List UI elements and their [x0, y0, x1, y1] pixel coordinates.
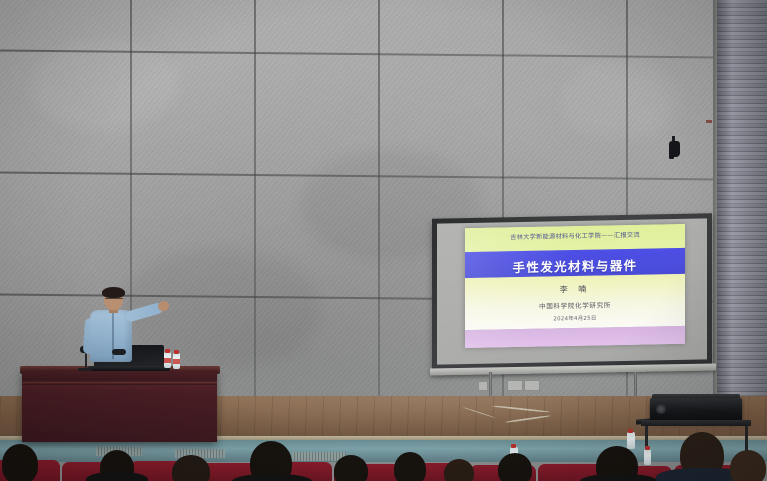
wall-socket	[478, 381, 488, 391]
presenter-remote	[112, 349, 126, 355]
audience-head	[172, 455, 210, 481]
wall-socket	[524, 380, 540, 391]
water-bottle	[627, 432, 635, 449]
audience-head	[498, 453, 532, 481]
wall-blotch	[560, 60, 680, 140]
audience-shoulders	[580, 474, 658, 481]
bottle-cap	[628, 429, 633, 433]
audience-shoulders	[86, 472, 148, 481]
projector-lens-icon	[656, 404, 666, 414]
bottle-cap	[645, 446, 650, 450]
projector-table-top	[641, 420, 751, 426]
bottle-label	[164, 358, 171, 363]
wall-camera-icon	[669, 141, 680, 157]
wall-seam-vertical	[378, 0, 380, 440]
microphone-base	[78, 368, 92, 371]
audience-head	[730, 450, 766, 481]
audience-head	[2, 444, 38, 481]
speaker-hair	[102, 287, 125, 298]
podium-molding	[22, 382, 217, 385]
laptop-base	[88, 366, 170, 371]
audience-head	[394, 452, 426, 481]
ribbed-louvre-panel	[717, 0, 767, 440]
bottle-cap	[165, 349, 170, 353]
bottle-cap	[174, 350, 179, 354]
wall-marking	[706, 120, 712, 123]
presentation-slide: 吉林大学新能源材料与化工学院——汇报交流 手性发光材料与器件 李 喃 中国科学院…	[465, 224, 685, 348]
podium	[22, 370, 217, 442]
glasses-icon	[105, 298, 123, 303]
audience-head	[334, 455, 368, 481]
wall-blotch	[30, 40, 180, 130]
wall-seam-vertical	[254, 0, 256, 440]
water-bottle	[644, 449, 651, 465]
projection-screen: 吉林大学新能源材料与化工学院——汇报交流 手性发光材料与器件 李 喃 中国科学院…	[432, 216, 712, 370]
wall-socket	[507, 380, 523, 391]
audience-head	[444, 459, 474, 481]
bottle-label	[173, 359, 180, 364]
bottle-cap	[511, 444, 516, 448]
lecture-hall-photo: 吉林大学新能源材料与化工学院——汇报交流 手性发光材料与器件 李 喃 中国科学院…	[0, 0, 767, 481]
audience-shoulders	[232, 474, 312, 481]
